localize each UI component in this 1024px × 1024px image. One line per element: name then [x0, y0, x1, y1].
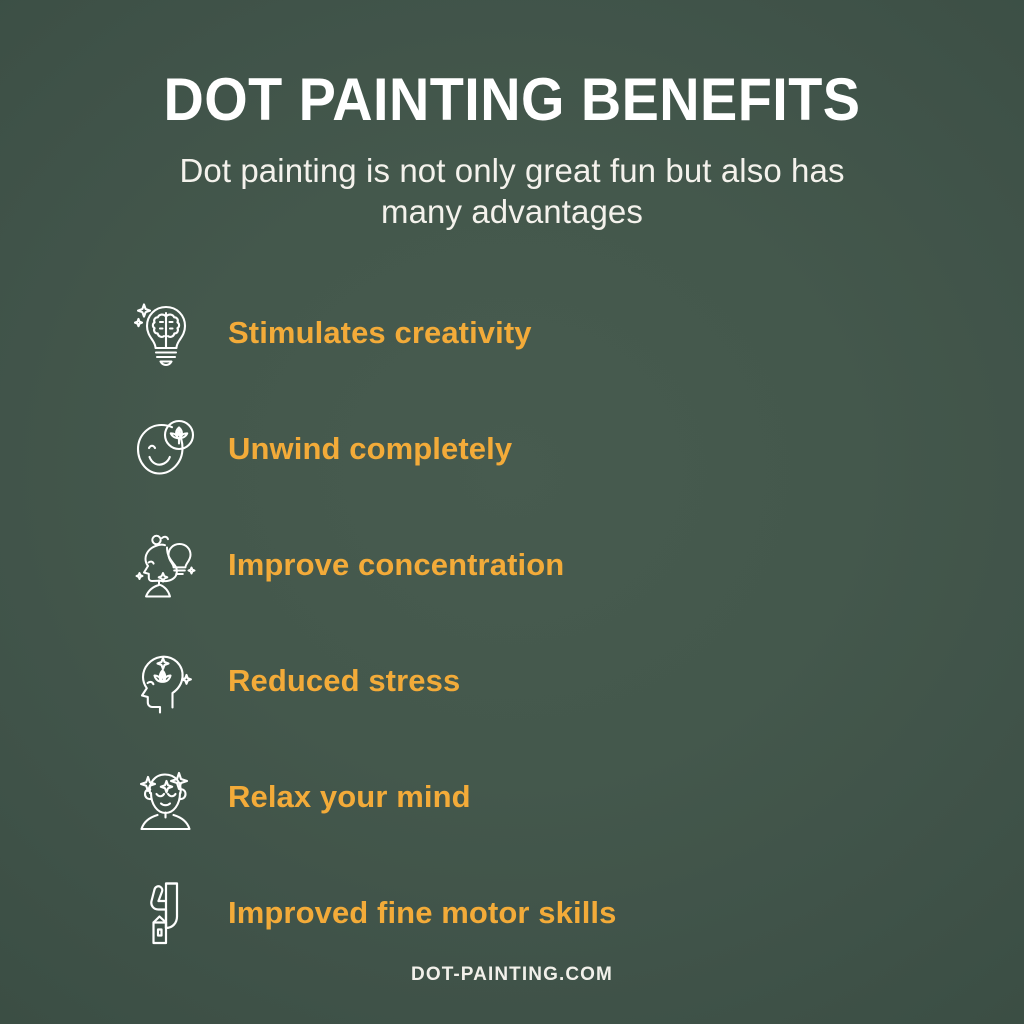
- benefit-item-improve-concentration: Improve concentration: [0, 507, 1024, 623]
- benefit-item-improved-fine-motor-skills: Improved fine motor skills: [0, 855, 1024, 971]
- smiling-face-flower-icon: [132, 413, 200, 485]
- head-profile-lightbulb-icon: [132, 529, 200, 601]
- benefit-item-relax-your-mind: Relax your mind: [0, 739, 1024, 855]
- benefit-item-unwind-completely: Unwind completely: [0, 391, 1024, 507]
- poster-header: DOT PAINTING BENEFITS Dot painting is no…: [0, 0, 1024, 233]
- benefit-label: Reduced stress: [228, 663, 460, 699]
- page-subtitle: Dot painting is not only great fun but a…: [142, 150, 882, 233]
- lightbulb-brain-sparkle-icon: [132, 297, 200, 369]
- footer-website-url: DOT-PAINTING.COM: [411, 964, 613, 985]
- hand-pinching-block-icon: [132, 877, 200, 949]
- benefit-label: Improve concentration: [228, 547, 564, 583]
- benefit-label: Stimulates creativity: [228, 315, 532, 351]
- poster-canvas: DOT PAINTING BENEFITS Dot painting is no…: [0, 0, 1024, 1024]
- benefit-label: Relax your mind: [228, 779, 471, 815]
- benefit-item-stimulates-creativity: Stimulates creativity: [0, 275, 1024, 391]
- benefit-item-reduced-stress: Reduced stress: [0, 623, 1024, 739]
- poster-footer: DOT-PAINTING.COM: [0, 964, 1024, 986]
- head-profile-lotus-sparkle-icon: [132, 645, 200, 717]
- page-title: DOT PAINTING BENEFITS: [36, 68, 988, 132]
- benefits-list: Stimulates creativity Unwind completely: [0, 275, 1024, 971]
- benefit-label: Unwind completely: [228, 431, 512, 467]
- relaxed-face-stars-icon: [132, 761, 200, 833]
- benefit-label: Improved fine motor skills: [228, 895, 616, 931]
